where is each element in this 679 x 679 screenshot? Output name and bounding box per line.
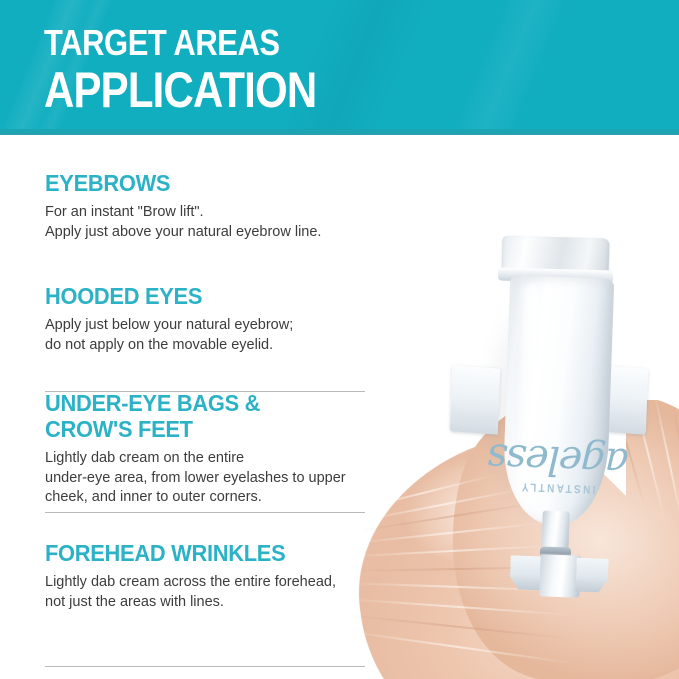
- section-eyebrows: EYEBROWS For an instant "Brow lift". App…: [0, 170, 321, 242]
- tube-cap-wing-left: [510, 555, 543, 590]
- section-hooded-eyes: HOODED EYES Apply just below your natura…: [0, 283, 293, 355]
- section-heading-eyebrows: EYEBROWS: [45, 170, 308, 196]
- header-banner: TARGET AREAS APPLICATION: [0, 0, 679, 135]
- section-under-eye-bags: UNDER-EYE BAGS & CROW'S FEET Lightly dab…: [0, 390, 346, 508]
- section-body-eyebrows: For an instant "Brow lift". Apply just a…: [45, 203, 321, 242]
- product-tube-image: INSTANTLY ageless: [430, 225, 660, 585]
- section-divider: [45, 512, 365, 513]
- section-body-forehead: Lightly dab cream across the entire fore…: [45, 573, 336, 612]
- tube-cap: [511, 553, 606, 598]
- section-body-under-eye: Lightly dab cream on the entire under-ey…: [45, 449, 346, 508]
- section-heading-under-eye-line2: CROW'S FEET: [45, 416, 331, 442]
- header-title-group: TARGET AREAS APPLICATION: [44, 24, 368, 116]
- section-heading-hooded-eyes: HOODED EYES: [45, 283, 281, 309]
- section-heading-under-eye-line1: UNDER-EYE BAGS &: [45, 390, 331, 416]
- section-body-hooded-eyes: Apply just below your natural eyebrow; d…: [45, 316, 293, 355]
- header-streak-decoration: [416, 0, 584, 135]
- header-title-line2: APPLICATION: [44, 64, 316, 116]
- header-title-line1: TARGET AREAS: [44, 24, 323, 62]
- tube-body: [502, 275, 615, 526]
- section-divider: [45, 666, 365, 667]
- header-bottom-edge-line: [0, 133, 679, 135]
- tube-side-tab-left: [450, 365, 500, 434]
- infographic-page: TARGET AREAS APPLICATION: [0, 0, 679, 679]
- section-forehead-wrinkles: FOREHEAD WRINKLES Lightly dab cream acro…: [0, 540, 336, 612]
- section-heading-forehead: FOREHEAD WRINKLES: [45, 540, 321, 566]
- tube-cap-center: [539, 554, 580, 597]
- tube-cap-wing-right: [575, 558, 608, 593]
